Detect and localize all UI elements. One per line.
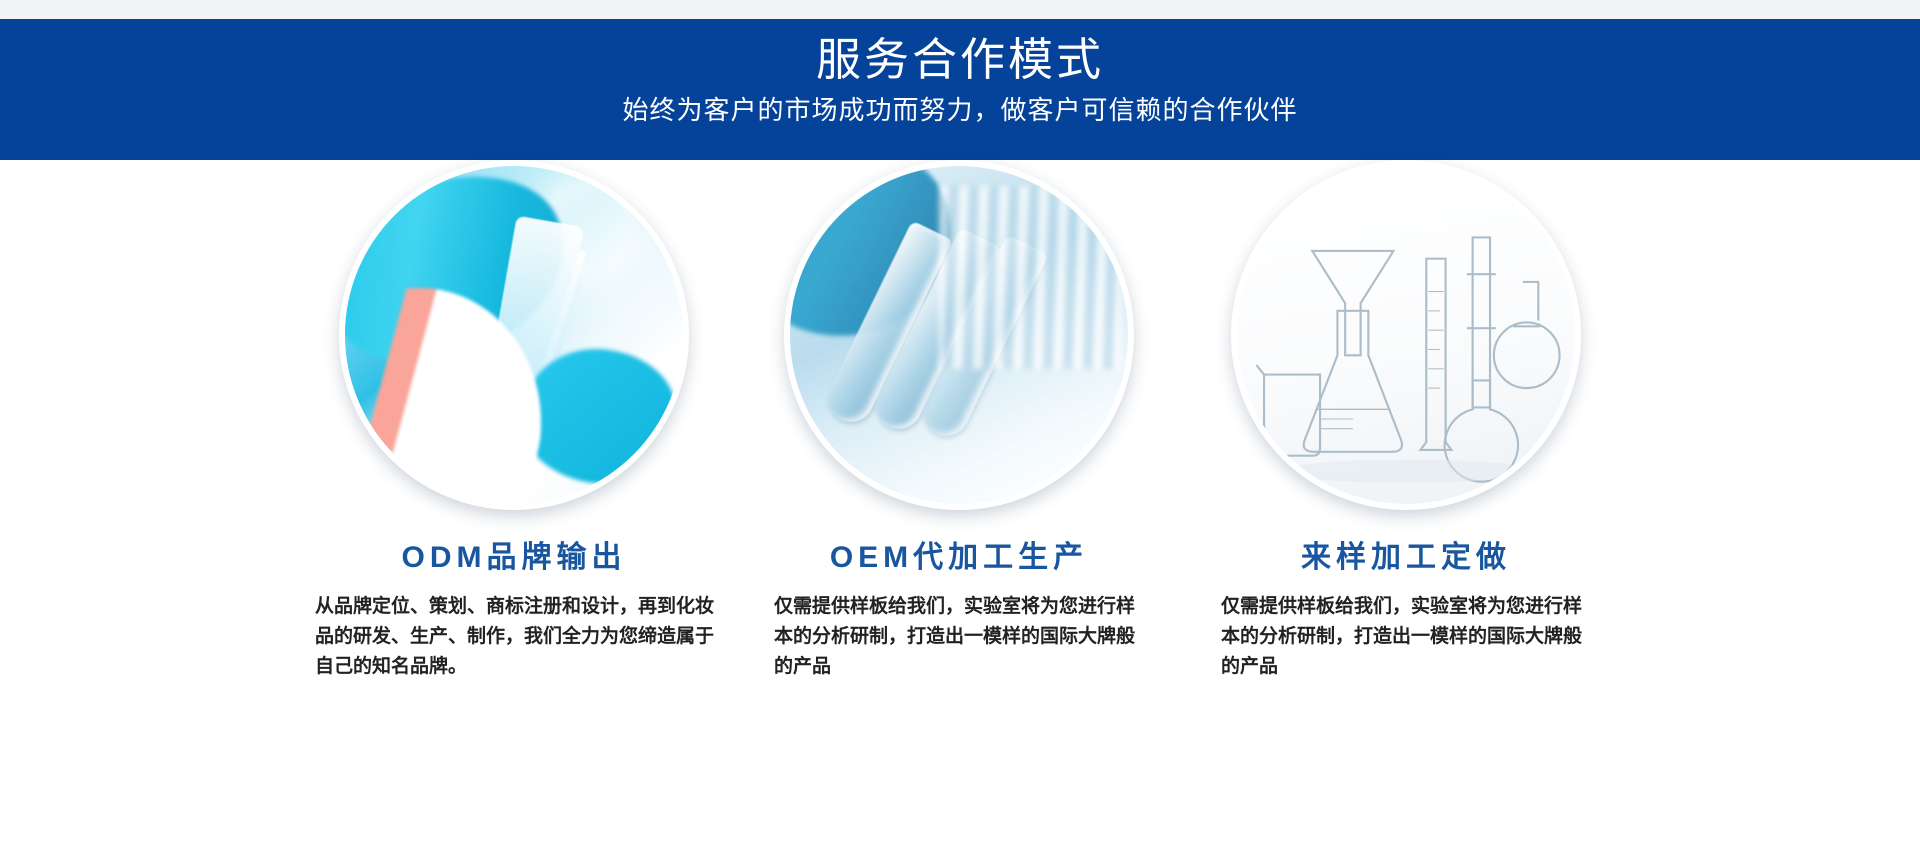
pipette-lab-photo — [345, 166, 683, 504]
service-card-odm[interactable]: ODM品牌输出 从品牌定位、策划、商标注册和设计，再到化妆品的研发、生产、制作，… — [282, 160, 747, 682]
page-subtitle: 始终为客户的市场成功而努力，做客户可信赖的合作伙伴 — [622, 89, 1297, 131]
photo-frame-odm — [339, 160, 689, 510]
service-cooperation-page: 服务合作模式 始终为客户的市场成功而努力，做客户可信赖的合作伙伴 ODM品牌输出… — [0, 0, 1920, 844]
page-header-band: 服务合作模式 始终为客户的市场成功而努力，做客户可信赖的合作伙伴 — [0, 19, 1920, 160]
card-description-odm: 从品牌定位、策划、商标注册和设计，再到化妆品的研发、生产、制作，我们全力为您缔造… — [315, 592, 715, 682]
top-gray-strip — [0, 0, 1920, 19]
test-tubes-photo — [790, 166, 1128, 504]
card-description-oem: 仅需提供样板给我们，实验室将为您进行样本的分析研制，打造出一模样的国际大牌般的产… — [774, 592, 1144, 682]
service-card-oem[interactable]: OEM代加工生产 仅需提供样板给我们，实验室将为您进行样本的分析研制，打造出一模… — [727, 160, 1192, 682]
service-card-custom[interactable]: 来样加工定做 仅需提供样板给我们，实验室将为您进行样本的分析研制，打造出一模样的… — [1174, 160, 1639, 682]
service-cards-row: ODM品牌输出 从品牌定位、策划、商标注册和设计，再到化妆品的研发、生产、制作，… — [0, 160, 1920, 844]
photo-frame-custom — [1231, 160, 1581, 510]
glassware-photo — [1237, 166, 1575, 504]
photo-frame-oem — [784, 160, 1134, 510]
page-title: 服务合作模式 — [816, 31, 1104, 89]
card-description-custom: 仅需提供样板给我们，实验室将为您进行样本的分析研制，打造出一模样的国际大牌般的产… — [1221, 592, 1591, 682]
glassware-illustration — [1237, 166, 1575, 504]
gloved-hand-shape — [521, 349, 676, 484]
card-title-odm: ODM品牌输出 — [402, 532, 627, 576]
card-title-oem: OEM代加工生产 — [830, 532, 1088, 576]
card-title-custom: 来样加工定做 — [1301, 532, 1511, 576]
